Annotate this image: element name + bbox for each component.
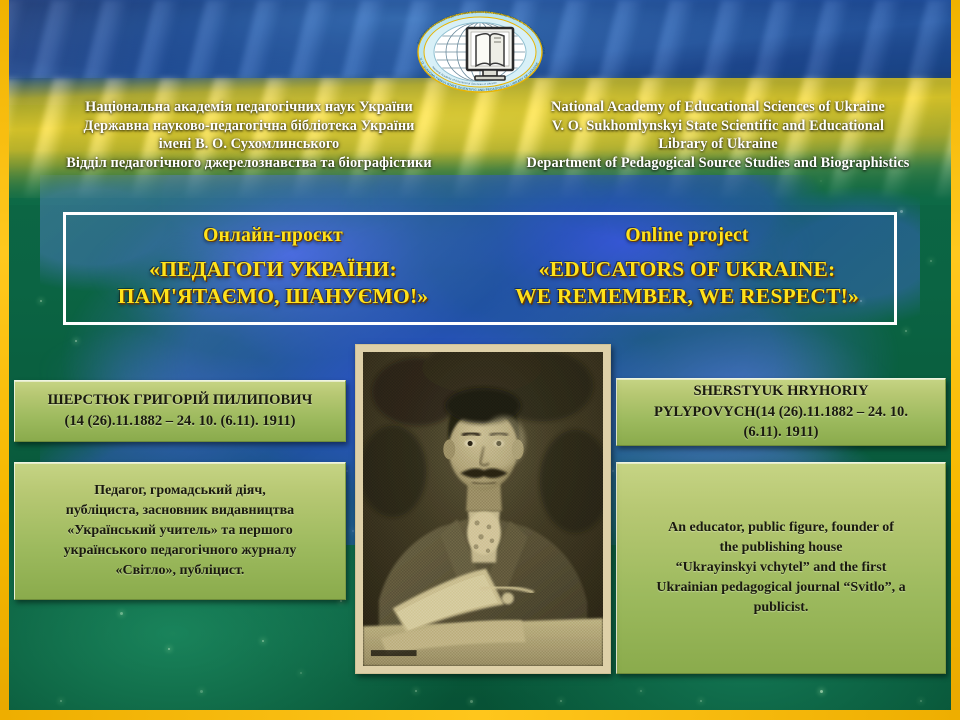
project-name-en: «EDUCATORS OF UKRAINE: WE REMEMBER, WE R… [515,256,859,310]
desc-ua-line-4: українського педагогічного журналу [64,541,297,561]
desc-ua-line-3: «Український учитель» та першого [64,521,297,541]
person-description-card-ua: Педагог, громадський діяч, публіциста, з… [14,462,346,600]
desc-ua-line-5: «Світло», публіцист. [64,561,297,581]
presentation-slide: ДЕРЖАВНА НАУКОВО-ПЕДАГОГІЧНА БІБЛІОТЕКА … [0,0,960,720]
project-name-ua-line-1: «ПЕДАГОГИ УКРАЇНИ: [118,256,429,283]
desc-ua-line-1: Педагог, громадський діяч, [64,481,297,501]
header-ua-line-1: Національна академія педагогічних наук У… [14,98,484,117]
project-subtitle-ua: Онлайн-проєкт [203,225,343,247]
person-dates-ua: (14 (26).11.1882 – 24. 10. (6.11). 1911) [48,411,313,432]
person-description-ua-text: Педагог, громадський діяч, публіциста, з… [64,481,297,582]
header-en-line-1: National Academy of Educational Sciences… [484,98,952,117]
header-institution-en: National Academy of Educational Sciences… [484,98,952,172]
desc-en-line-3: “Ukrayinskyi vchytel” and the first [656,558,905,578]
institution-emblem-icon: ДЕРЖАВНА НАУКОВО-ПЕДАГОГІЧНА БІБЛІОТЕКА … [399,6,561,96]
header-institution-ua: Національна академія педагогічних наук У… [14,98,484,172]
desc-ua-line-2: публіциста, засновник видавництва [64,501,297,521]
person-description-en-text: An educator, public figure, founder of t… [656,518,905,619]
project-subtitle-en: Online project [625,225,748,247]
person-name-card-ua: ШЕРСТЮК ГРИГОРІЙ ПИЛИПОВИЧ (14 (26).11.1… [14,380,346,442]
project-name-ua: «ПЕДАГОГИ УКРАЇНИ: ПАМ'ЯТАЄМО, ШАНУЄМО!» [118,256,429,310]
person-portrait-photo [363,352,603,666]
person-name-en-line-2: PYLYPOVYCH(14 (26).11.1882 – 24. 10. [654,402,908,423]
header-ua-line-4: Відділ педагогічного джерелознавства та … [14,154,484,173]
project-title-en: Online project «EDUCATORS OF UKRAINE: WE… [480,215,894,322]
person-name-ua: ШЕРСТЮК ГРИГОРІЙ ПИЛИПОВИЧ [48,390,313,411]
project-title-panel: Онлайн-проєкт «ПЕДАГОГИ УКРАЇНИ: ПАМ'ЯТА… [63,212,897,325]
project-title-ua: Онлайн-проєкт «ПЕДАГОГИ УКРАЇНИ: ПАМ'ЯТА… [66,215,480,322]
header-en-line-3: Library of Ukraine [484,135,952,154]
person-portrait-frame [355,344,611,674]
desc-en-line-2: the publishing house [656,538,905,558]
header-ua-line-2: Державна науково-педагогічна бібліотека … [14,117,484,136]
person-name-ua-text: ШЕРСТЮК ГРИГОРІЙ ПИЛИПОВИЧ (14 (26).11.1… [48,390,313,431]
desc-en-line-1: An educator, public figure, founder of [656,518,905,538]
header-en-line-4: Department of Pedagogical Source Studies… [484,154,952,173]
person-name-en-line-3: (6.11). 1911) [654,422,908,443]
project-name-en-line-1: «EDUCATORS OF UKRAINE: [515,256,859,283]
project-name-en-line-2: WE REMEMBER, WE RESPECT!» [515,283,859,310]
desc-en-line-5: publicist. [656,598,905,618]
project-name-ua-line-2: ПАМ'ЯТАЄМО, ШАНУЄМО!» [118,283,429,310]
desc-en-line-4: Ukrainian pedagogical journal “Svitlo”, … [656,578,905,598]
person-name-card-en: SHERSTYUK HRYHORIY PYLYPOVYCH(14 (26).11… [616,378,946,446]
person-name-en-line-1: SHERSTYUK HRYHORIY [654,381,908,402]
header-ua-line-3: імені В. О. Сухомлинського [14,135,484,154]
header-en-line-2: V. O. Sukhomlynskyi State Scientific and… [484,117,952,136]
person-name-en-text: SHERSTYUK HRYHORIY PYLYPOVYCH(14 (26).11… [654,381,908,443]
person-description-card-en: An educator, public figure, founder of t… [616,462,946,674]
portrait-film-grain [363,352,603,666]
